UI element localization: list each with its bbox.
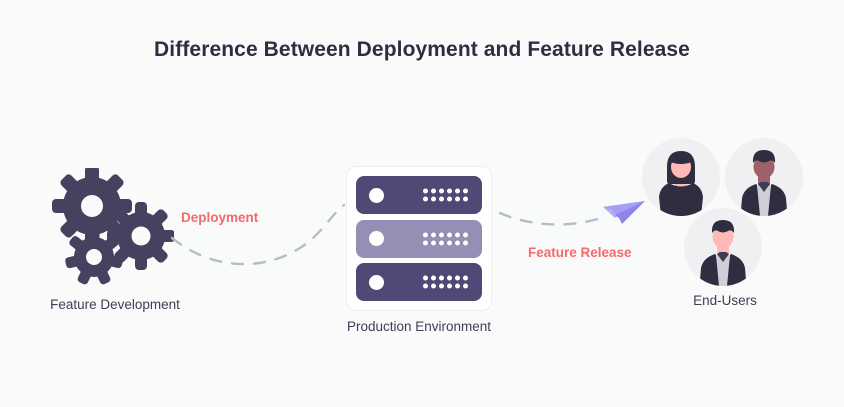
server-rack xyxy=(356,176,482,214)
server-dots-icon xyxy=(423,276,468,289)
server-led-icon xyxy=(369,188,384,203)
server-dots-icon xyxy=(423,232,468,245)
page-title: Difference Between Deployment and Featur… xyxy=(0,38,844,62)
paper-plane-icon xyxy=(603,201,645,224)
flow-label-feature-release: Feature Release xyxy=(528,245,632,260)
server-stack-icon xyxy=(346,166,492,311)
node-label-feature-development: Feature Development xyxy=(15,297,215,312)
server-led-icon xyxy=(369,275,384,290)
avatar xyxy=(725,138,803,216)
diagram-canvas: Difference Between Deployment and Featur… xyxy=(0,0,844,407)
node-label-production-environment: Production Environment xyxy=(319,319,519,334)
people-avatars-icon xyxy=(640,138,810,293)
dashed-connector-feature-release xyxy=(500,213,598,225)
flow-label-deployment: Deployment xyxy=(181,210,258,225)
gears-icon xyxy=(52,168,174,286)
server-dots-icon xyxy=(423,189,468,202)
server-rack xyxy=(356,220,482,258)
node-label-end-users: End-Users xyxy=(665,293,785,308)
server-rack xyxy=(356,263,482,301)
avatar xyxy=(684,208,762,286)
avatar xyxy=(642,138,720,216)
server-led-icon xyxy=(369,231,384,246)
